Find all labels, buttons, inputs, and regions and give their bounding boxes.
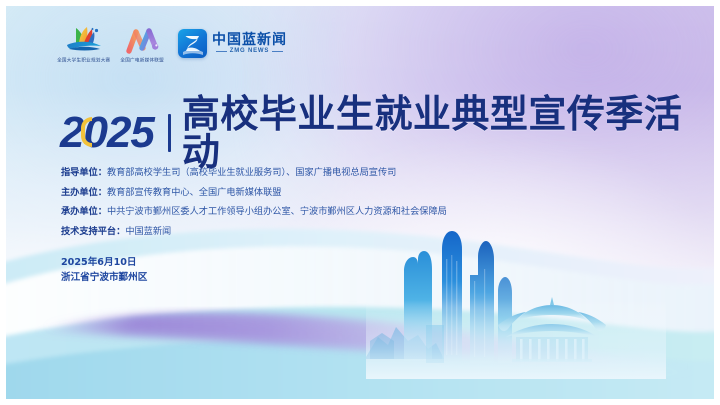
title-headline: 高校毕业生就业典型宣传季活动 [182, 95, 720, 171]
credit-line-platform: 技术支持平台：中国蓝新闻 [61, 222, 447, 242]
poster-canvas: 全国大学生职业规划大赛 [0, 0, 720, 405]
broadcast-newmedia-alliance-caption: 全国广电新媒体联盟 [120, 56, 164, 63]
zmg-name-cn: 中国蓝新闻 [212, 32, 287, 46]
credit-value-host: 教育部宣传教育中心、全国广电新媒体联盟 [107, 187, 282, 198]
page-title: 2025 高校毕业生就业典型宣传季活动 [60, 95, 720, 171]
title-year-text: 2025 [60, 108, 154, 157]
year-zero-gold-accent [81, 117, 92, 147]
zmg-wordmark: 中国蓝新闻 ZMG NEWS [212, 32, 287, 54]
credit-label-platform: 技术支持平台： [61, 226, 125, 237]
credits-block: 指导单位：教育部高校学生司（高校毕业生就业服务司）、国家广播电视总局宣传司 主办… [61, 163, 447, 241]
credit-value-organizer: 中共宁波市鄞州区委人才工作领导小组办公室、宁波市鄞州区人力资源和社会保障局 [107, 206, 447, 217]
broadcast-newmedia-alliance-mark [120, 24, 164, 56]
career-planning-contest-caption: 全国大学生职业规划大赛 [57, 56, 110, 63]
zmg-news-logo: 中国蓝新闻 ZMG NEWS [178, 29, 287, 58]
event-location: 浙江省宁波市鄞州区 [61, 270, 147, 285]
zmg-mark-icon [178, 29, 207, 58]
title-divider-bar [168, 114, 171, 152]
credit-line-guidance: 指导单位：教育部高校学生司（高校毕业生就业服务司）、国家广播电视总局宣传司 [61, 163, 447, 183]
credit-value-platform: 中国蓝新闻 [125, 226, 171, 237]
broadcast-newmedia-alliance-logo: 全国广电新媒体联盟 [120, 24, 164, 62]
zmg-rule-left [216, 51, 227, 52]
zmg-rule-right [272, 51, 283, 52]
zmg-name-en: ZMG NEWS [230, 48, 269, 54]
event-info-block: 2025年6月10日 浙江省宁波市鄞州区 [61, 255, 147, 285]
event-date: 2025年6月10日 [61, 255, 147, 270]
logo-row: 全国大学生职业规划大赛 [62, 24, 287, 62]
career-planning-contest-mark [62, 24, 106, 56]
career-planning-contest-logo: 全国大学生职业规划大赛 [62, 24, 106, 62]
credit-value-guidance: 教育部高校学生司（高校毕业生就业服务司）、国家广播电视总局宣传司 [107, 167, 396, 178]
ningbo-skyline-silhouette [366, 229, 666, 379]
credit-label-guidance: 指导单位： [61, 167, 107, 178]
credit-line-host: 主办单位：教育部宣传教育中心、全国广电新媒体联盟 [61, 183, 447, 203]
credit-line-organizer: 承办单位：中共宁波市鄞州区委人才工作领导小组办公室、宁波市鄞州区人力资源和社会保… [61, 202, 447, 222]
credit-label-host: 主办单位： [61, 187, 107, 198]
credit-label-organizer: 承办单位： [61, 206, 107, 217]
title-year: 2025 [60, 111, 154, 155]
